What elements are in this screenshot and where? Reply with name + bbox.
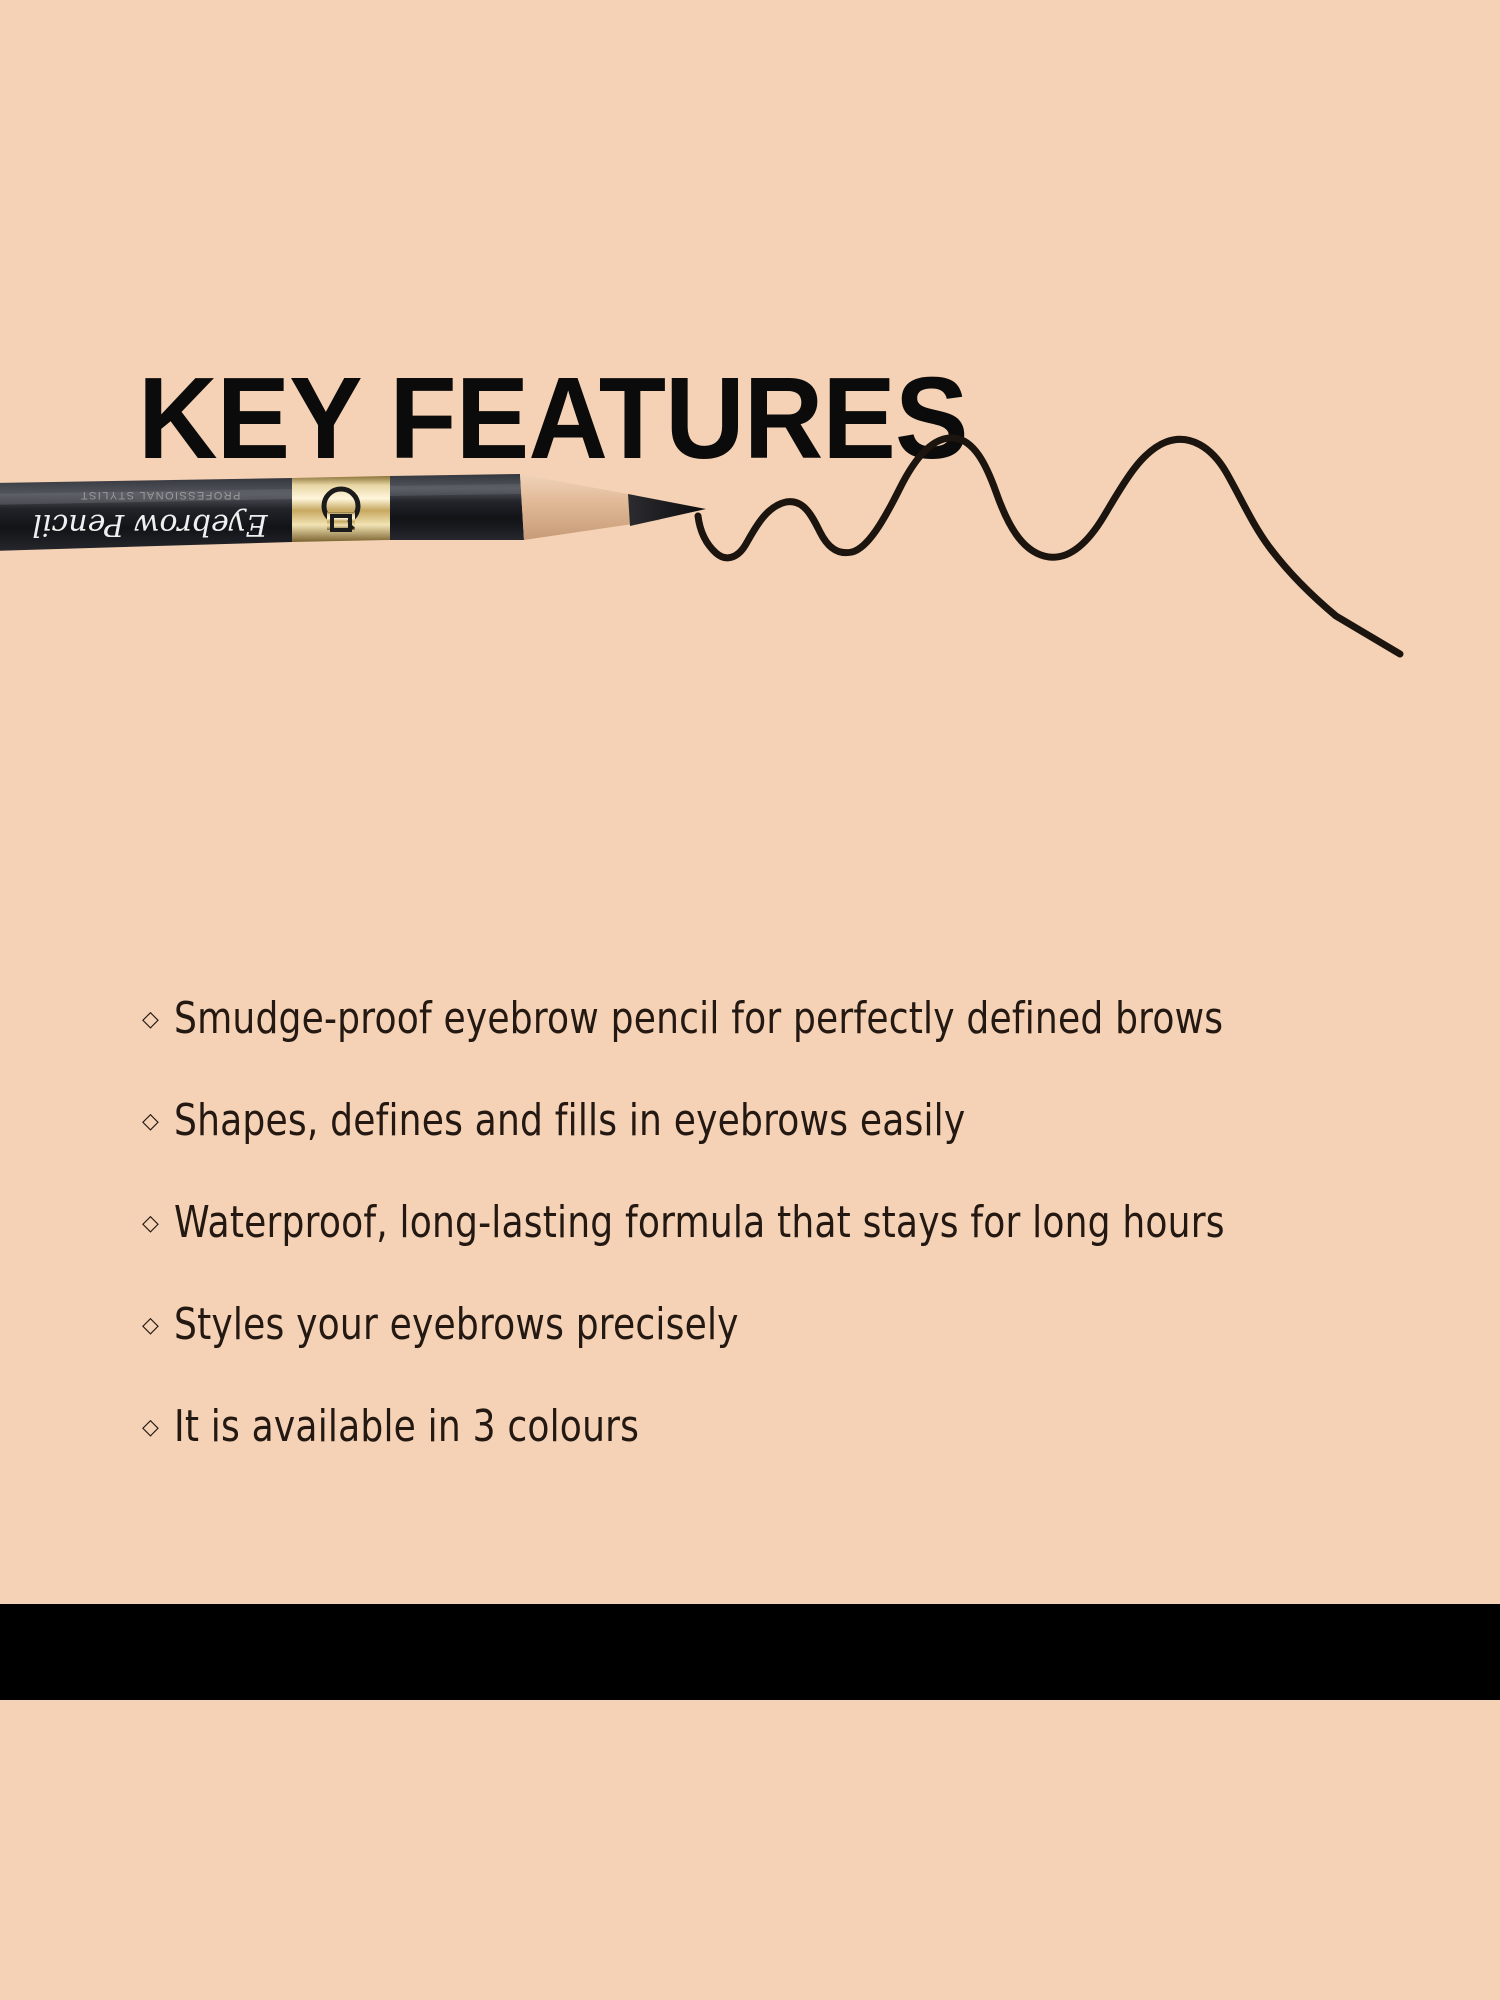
- bottom-black-bar: [0, 1604, 1500, 1700]
- feature-text: Waterproof, long-lasting formula that st…: [174, 1198, 1225, 1247]
- hero-illustration: Eyebrow Pencil PROFESSIONAL STYLIST: [0, 420, 1500, 750]
- footer-background: [0, 1700, 1500, 2000]
- feature-text: Shapes, defines and fills in eyebrows ea…: [174, 1096, 965, 1145]
- list-item: ◇ Waterproof, long-lasting formula that …: [142, 1199, 1392, 1301]
- pencil-brand-text: Eyebrow Pencil: [32, 507, 268, 542]
- pencil-gold-band: [292, 476, 390, 542]
- svg-text:PROFESSIONAL STYLIST: PROFESSIONAL STYLIST: [80, 489, 241, 501]
- list-item: ◇ Styles your eyebrows precisely: [142, 1301, 1392, 1403]
- diamond-bullet-icon: ◇: [142, 1417, 174, 1439]
- pencil-graphite-tip: [628, 494, 706, 526]
- pencil-stroke: [698, 438, 1400, 654]
- diamond-bullet-icon: ◇: [142, 1009, 174, 1031]
- list-item: ◇ It is available in 3 colours: [142, 1403, 1392, 1505]
- diamond-bullet-icon: ◇: [142, 1213, 174, 1235]
- eyebrow-pencil-graphic: Eyebrow Pencil PROFESSIONAL STYLIST: [0, 474, 706, 551]
- feature-text: Smudge-proof eyebrow pencil for perfectl…: [174, 994, 1223, 1043]
- list-item: ◇ Smudge-proof eyebrow pencil for perfec…: [142, 995, 1392, 1097]
- pencil-subtitle-text: PROFESSIONAL STYLIST: [80, 489, 241, 501]
- pencil-front-barrel: [390, 474, 524, 540]
- feature-text: It is available in 3 colours: [174, 1402, 639, 1451]
- pencil-front-highlight: [390, 484, 521, 496]
- key-features-page: KEY FEATURES: [0, 0, 1500, 2000]
- feature-list: ◇ Smudge-proof eyebrow pencil for perfec…: [142, 995, 1392, 1505]
- diamond-bullet-icon: ◇: [142, 1111, 174, 1133]
- svg-text:Eyebrow Pencil: Eyebrow Pencil: [32, 507, 268, 542]
- diamond-bullet-icon: ◇: [142, 1315, 174, 1337]
- feature-text: Styles your eyebrows precisely: [174, 1300, 739, 1349]
- list-item: ◇ Shapes, defines and fills in eyebrows …: [142, 1097, 1392, 1199]
